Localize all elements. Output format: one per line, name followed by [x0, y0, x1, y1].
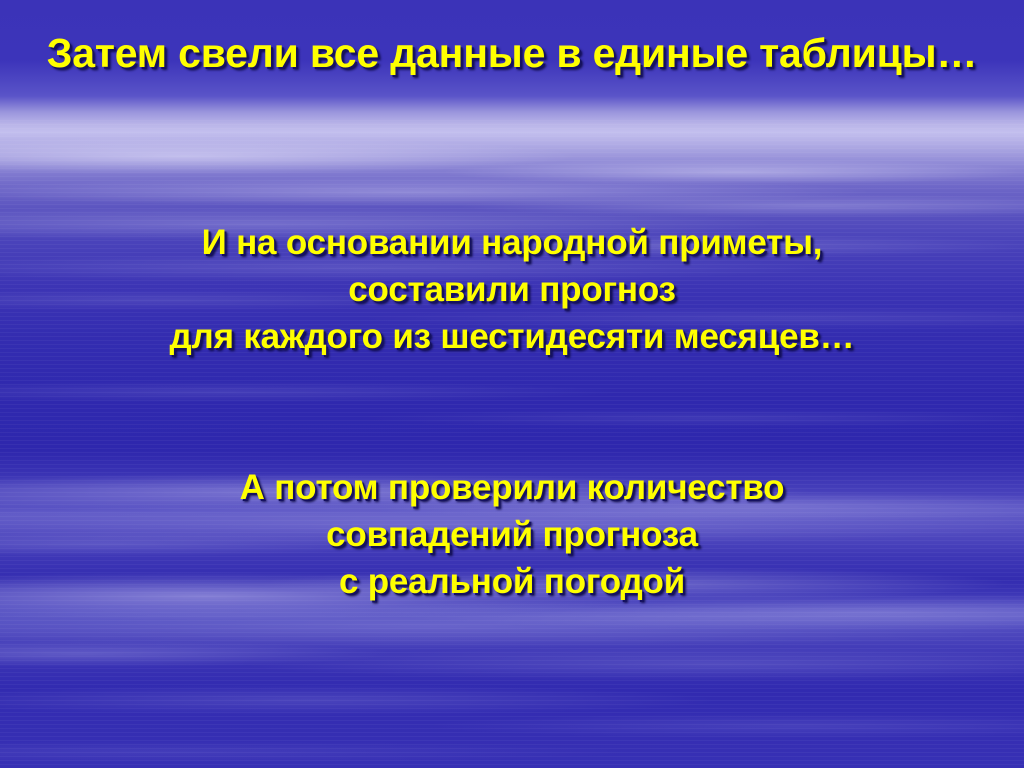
- body-line: составили прогноз: [0, 266, 1024, 313]
- slide-text-layer: Затем свели все данные в единые таблицы……: [0, 0, 1024, 768]
- body-line: с реальной погодой: [0, 558, 1024, 605]
- body-line: для каждого из шестидесяти месяцев…: [0, 313, 1024, 360]
- slide-body-block-verification: А потом проверили количество совпадений …: [0, 464, 1024, 605]
- body-line: совпадений прогноза: [0, 511, 1024, 558]
- slide-body-block-forecast: И на основании народной приметы, состави…: [0, 219, 1024, 360]
- body-line: А потом проверили количество: [0, 464, 1024, 511]
- slide-title: Затем свели все данные в единые таблицы…: [0, 29, 1024, 77]
- presentation-slide: Затем свели все данные в единые таблицы……: [0, 0, 1024, 768]
- body-line: И на основании народной приметы,: [0, 219, 1024, 266]
